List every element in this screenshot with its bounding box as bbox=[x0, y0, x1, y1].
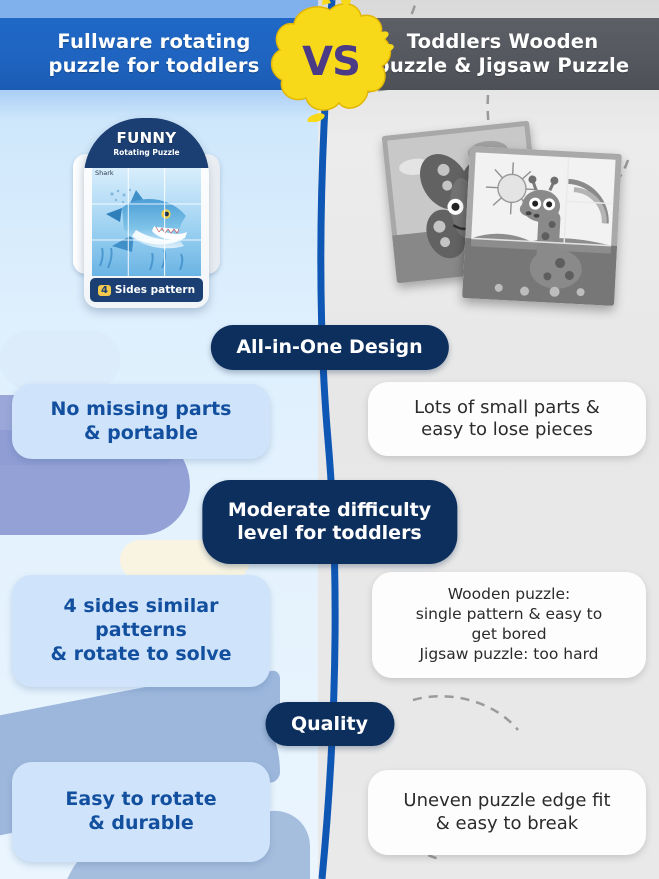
right-point-2: Wooden puzzle: single pattern & easy to … bbox=[372, 572, 646, 678]
left-header-title: Fullware rotating puzzle for toddlers bbox=[48, 30, 273, 78]
vs-label: VS bbox=[262, 0, 398, 122]
product-package-image: FUNNY Rotating Puzzle Shark bbox=[73, 118, 220, 308]
package-body: FUNNY Rotating Puzzle Shark bbox=[84, 118, 209, 308]
giraffe-puzzle-art bbox=[462, 146, 622, 306]
package-footer-banner: 4 Sides pattern bbox=[90, 278, 203, 302]
puzzle-image-name: Shark bbox=[95, 169, 114, 177]
comparison-title-3: Quality bbox=[265, 702, 394, 746]
comparison-title-1: All-in-One Design bbox=[210, 325, 448, 370]
right-point-3: Uneven puzzle edge fit & easy to break bbox=[368, 770, 646, 855]
right-point-1: Lots of small parts & easy to lose piece… bbox=[368, 382, 646, 456]
left-point-3: Easy to rotate & durable bbox=[12, 762, 270, 862]
package-subtitle: Rotating Puzzle bbox=[113, 148, 179, 157]
right-header-title: Toddlers Wooden puzzle & Jigsaw Puzzle bbox=[366, 30, 630, 78]
shark-illustration bbox=[92, 168, 201, 276]
package-brand-name: FUNNY bbox=[117, 129, 177, 147]
sides-pattern-label: Sides pattern bbox=[115, 284, 195, 296]
left-point-1: No missing parts & portable bbox=[12, 384, 270, 459]
wooden-puzzle-giraffe bbox=[462, 146, 622, 306]
package-puzzle-window: Shark bbox=[92, 168, 201, 276]
package-brand-header: FUNNY Rotating Puzzle bbox=[84, 118, 209, 168]
left-point-2: 4 sides similar patterns & rotate to sol… bbox=[12, 575, 270, 687]
vs-badge: VS bbox=[262, 0, 398, 122]
sides-count-badge: 4 bbox=[98, 285, 111, 296]
comparison-infographic: Fullware rotating puzzle for toddlers To… bbox=[0, 0, 659, 879]
comparison-title-2: Moderate difficulty level for toddlers bbox=[202, 480, 457, 564]
